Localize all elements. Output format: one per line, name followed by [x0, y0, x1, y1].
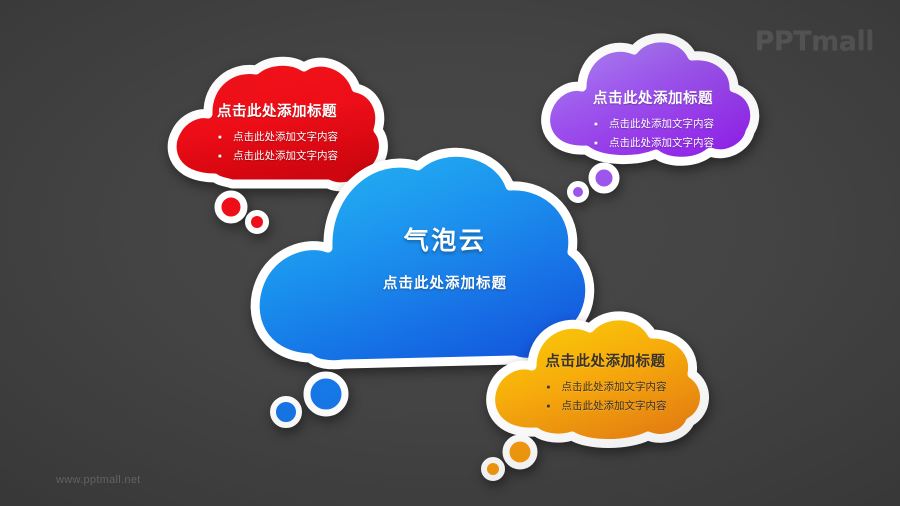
- slide-canvas: 点击此处添加标题 ▪ 点击此处添加文字内容 ▪ 点击此处添加文字内容: [0, 0, 900, 506]
- blue-cloud-text: 气泡云 点击此处添加标题: [300, 228, 590, 293]
- blue-cloud-heading: 气泡云: [300, 228, 590, 256]
- orange-cloud-title: 点击此处添加标题: [508, 350, 703, 371]
- purple-cloud-text: 点击此处添加标题 ▪ 点击此处添加文字内容 ▪ 点击此处添加文字内容: [558, 87, 748, 153]
- purple-cloud-title: 点击此处添加标题: [558, 87, 748, 108]
- watermark-url: www.pptmall.net: [56, 474, 141, 486]
- list-item: ▪ 点击此处添加文字内容: [545, 378, 667, 397]
- list-item: ▪ 点击此处添加文字内容: [545, 397, 667, 416]
- purple-cloud-bullets: ▪ 点击此处添加文字内容 ▪ 点击此处添加文字内容: [592, 115, 714, 153]
- bullet-icon: ▪: [218, 132, 222, 143]
- bullet-icon: ▪: [218, 151, 222, 162]
- bullet-text: 点击此处添加文字内容: [562, 381, 667, 393]
- red-cloud-title: 点击此处添加标题: [182, 100, 372, 121]
- bullet-text: 点击此处添加文字内容: [609, 137, 714, 149]
- bullet-text: 点击此处添加文字内容: [233, 131, 338, 143]
- bullet-icon: ▪: [547, 401, 551, 412]
- pptmall-logo: PPTmall: [755, 26, 874, 57]
- bullet-icon: ▪: [547, 382, 551, 393]
- list-item: ▪ 点击此处添加文字内容: [216, 128, 338, 147]
- orange-cloud-text: 点击此处添加标题 ▪ 点击此处添加文字内容 ▪ 点击此处添加文字内容: [508, 350, 703, 416]
- list-item: ▪ 点击此处添加文字内容: [592, 115, 714, 134]
- bullet-text: 点击此处添加文字内容: [562, 400, 667, 412]
- bullet-icon: ▪: [594, 119, 598, 130]
- blue-cloud-subtitle: 点击此处添加标题: [300, 272, 590, 293]
- orange-cloud-bullets: ▪ 点击此处添加文字内容 ▪ 点击此处添加文字内容: [545, 378, 667, 416]
- list-item: ▪ 点击此处添加文字内容: [592, 134, 714, 153]
- bullet-text: 点击此处添加文字内容: [609, 118, 714, 130]
